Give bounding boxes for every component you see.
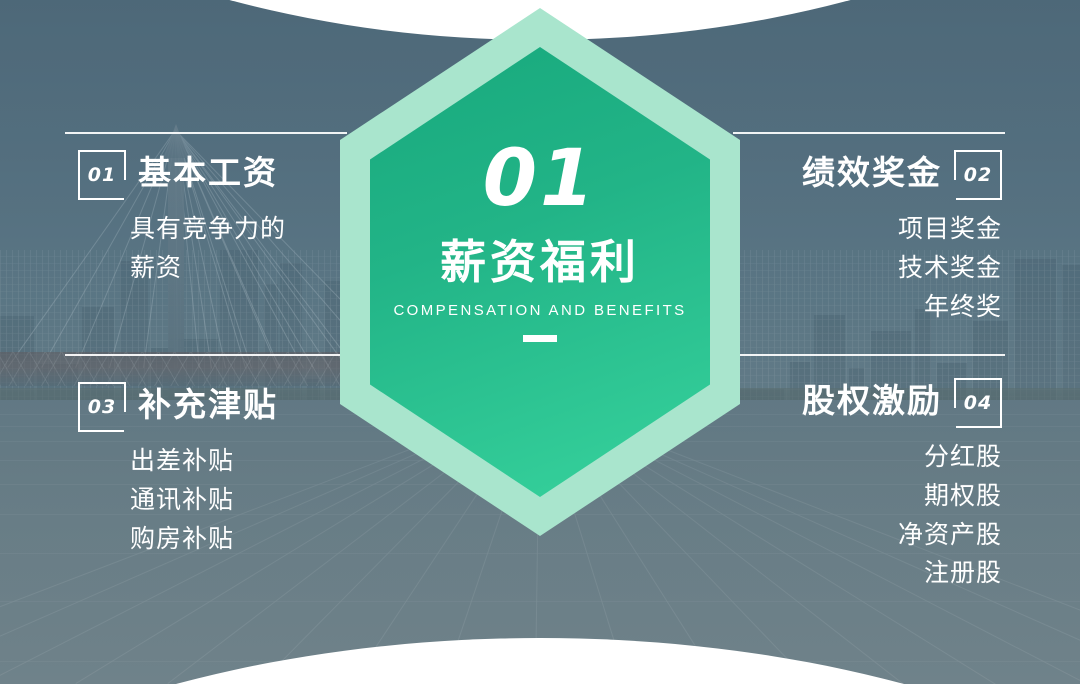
list-item: 分红股 bbox=[802, 438, 1002, 477]
section-item-list: 分红股 期权股 净资产股 注册股 bbox=[802, 438, 1002, 593]
list-item: 薪资 bbox=[130, 249, 286, 288]
list-item: 通讯补贴 bbox=[130, 481, 278, 520]
section-header: 01 基本工资 bbox=[78, 150, 286, 200]
list-item: 项目奖金 bbox=[802, 210, 1002, 249]
list-item: 购房补贴 bbox=[130, 520, 278, 559]
section-title: 补充津贴 bbox=[138, 388, 278, 421]
divider-bottom-left bbox=[65, 354, 347, 356]
list-item: 出差补贴 bbox=[130, 442, 278, 481]
section-header: 绩效奖金 02 bbox=[802, 150, 1002, 200]
section-header: 股权激励 04 bbox=[802, 378, 1002, 428]
infographic-canvas: 01 薪资福利 COMPENSATION AND BENEFITS 01 基本工… bbox=[0, 0, 1080, 684]
section-title: 绩效奖金 bbox=[802, 156, 942, 189]
divider-top-left bbox=[65, 132, 347, 134]
section-badge-02: 02 bbox=[956, 150, 1002, 200]
section-basic-salary[interactable]: 01 基本工资 具有竞争力的 薪资 bbox=[78, 150, 286, 288]
divider-bottom-right bbox=[733, 354, 1005, 356]
center-divider-dash bbox=[523, 335, 557, 342]
section-badge-03: 03 bbox=[78, 382, 124, 432]
center-hexagon: 01 薪资福利 COMPENSATION AND BENEFITS bbox=[340, 8, 740, 536]
divider-top-right bbox=[733, 132, 1005, 134]
section-supplementary-allowance[interactable]: 03 补充津贴 出差补贴 通讯补贴 购房补贴 bbox=[78, 382, 278, 558]
section-item-list: 出差补贴 通讯补贴 购房补贴 bbox=[130, 442, 278, 558]
section-title: 股权激励 bbox=[802, 384, 942, 417]
section-performance-bonus[interactable]: 绩效奖金 02 项目奖金 技术奖金 年终奖 bbox=[802, 150, 1002, 326]
list-item: 具有竞争力的 bbox=[130, 210, 286, 249]
center-number: 01 bbox=[483, 142, 598, 216]
section-badge-04: 04 bbox=[956, 378, 1002, 428]
hexagon-content: 01 薪资福利 COMPENSATION AND BENEFITS bbox=[340, 8, 740, 536]
list-item: 技术奖金 bbox=[802, 249, 1002, 288]
list-item: 净资产股 bbox=[802, 516, 1002, 555]
section-header: 03 补充津贴 bbox=[78, 382, 278, 432]
section-badge-01: 01 bbox=[78, 150, 124, 200]
list-item: 年终奖 bbox=[802, 288, 1002, 327]
list-item: 注册股 bbox=[802, 554, 1002, 593]
center-title: 薪资福利 bbox=[440, 238, 640, 286]
center-subtitle: COMPENSATION AND BENEFITS bbox=[393, 302, 686, 319]
section-item-list: 项目奖金 技术奖金 年终奖 bbox=[802, 210, 1002, 326]
section-item-list: 具有竞争力的 薪资 bbox=[130, 210, 286, 288]
section-title: 基本工资 bbox=[138, 156, 278, 189]
section-equity-incentive[interactable]: 股权激励 04 分红股 期权股 净资产股 注册股 bbox=[802, 378, 1002, 593]
list-item: 期权股 bbox=[802, 477, 1002, 516]
